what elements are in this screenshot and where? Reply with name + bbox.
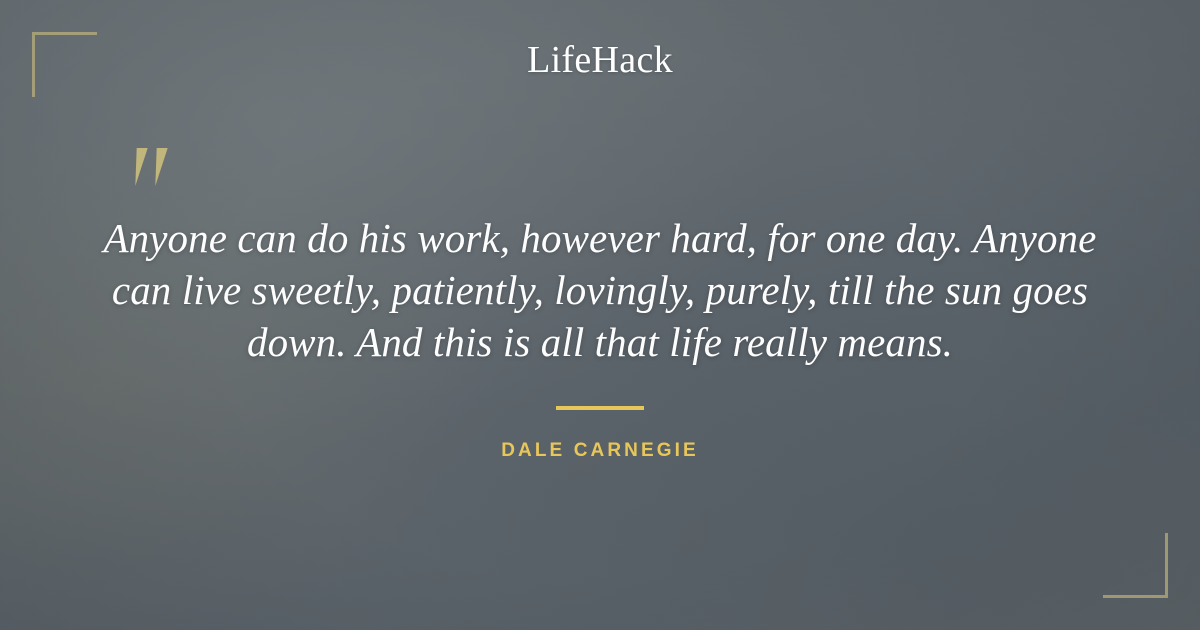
quotation-mark-stroke-left bbox=[129, 148, 147, 186]
lifehack-logo: LifeHack bbox=[0, 38, 1200, 82]
quote-line-3: down. And this is all that life really m… bbox=[80, 316, 1120, 368]
corner-bracket-bottom-right-icon bbox=[1103, 533, 1168, 598]
quote-author: DALE CARNEGIE bbox=[0, 440, 1200, 462]
quote-card: LifeHack Anyone can do his work, however… bbox=[0, 0, 1200, 630]
quote-line-2: can live sweetly, patiently, lovingly, p… bbox=[80, 264, 1120, 316]
quote-line-1: Anyone can do his work, however hard, fo… bbox=[80, 212, 1120, 264]
attribution-divider bbox=[556, 406, 644, 410]
quotation-mark-icon bbox=[133, 148, 179, 192]
quote-block: Anyone can do his work, however hard, fo… bbox=[80, 212, 1120, 368]
attribution-block: DALE CARNEGIE bbox=[0, 406, 1200, 462]
quotation-mark-stroke-right bbox=[149, 148, 167, 186]
